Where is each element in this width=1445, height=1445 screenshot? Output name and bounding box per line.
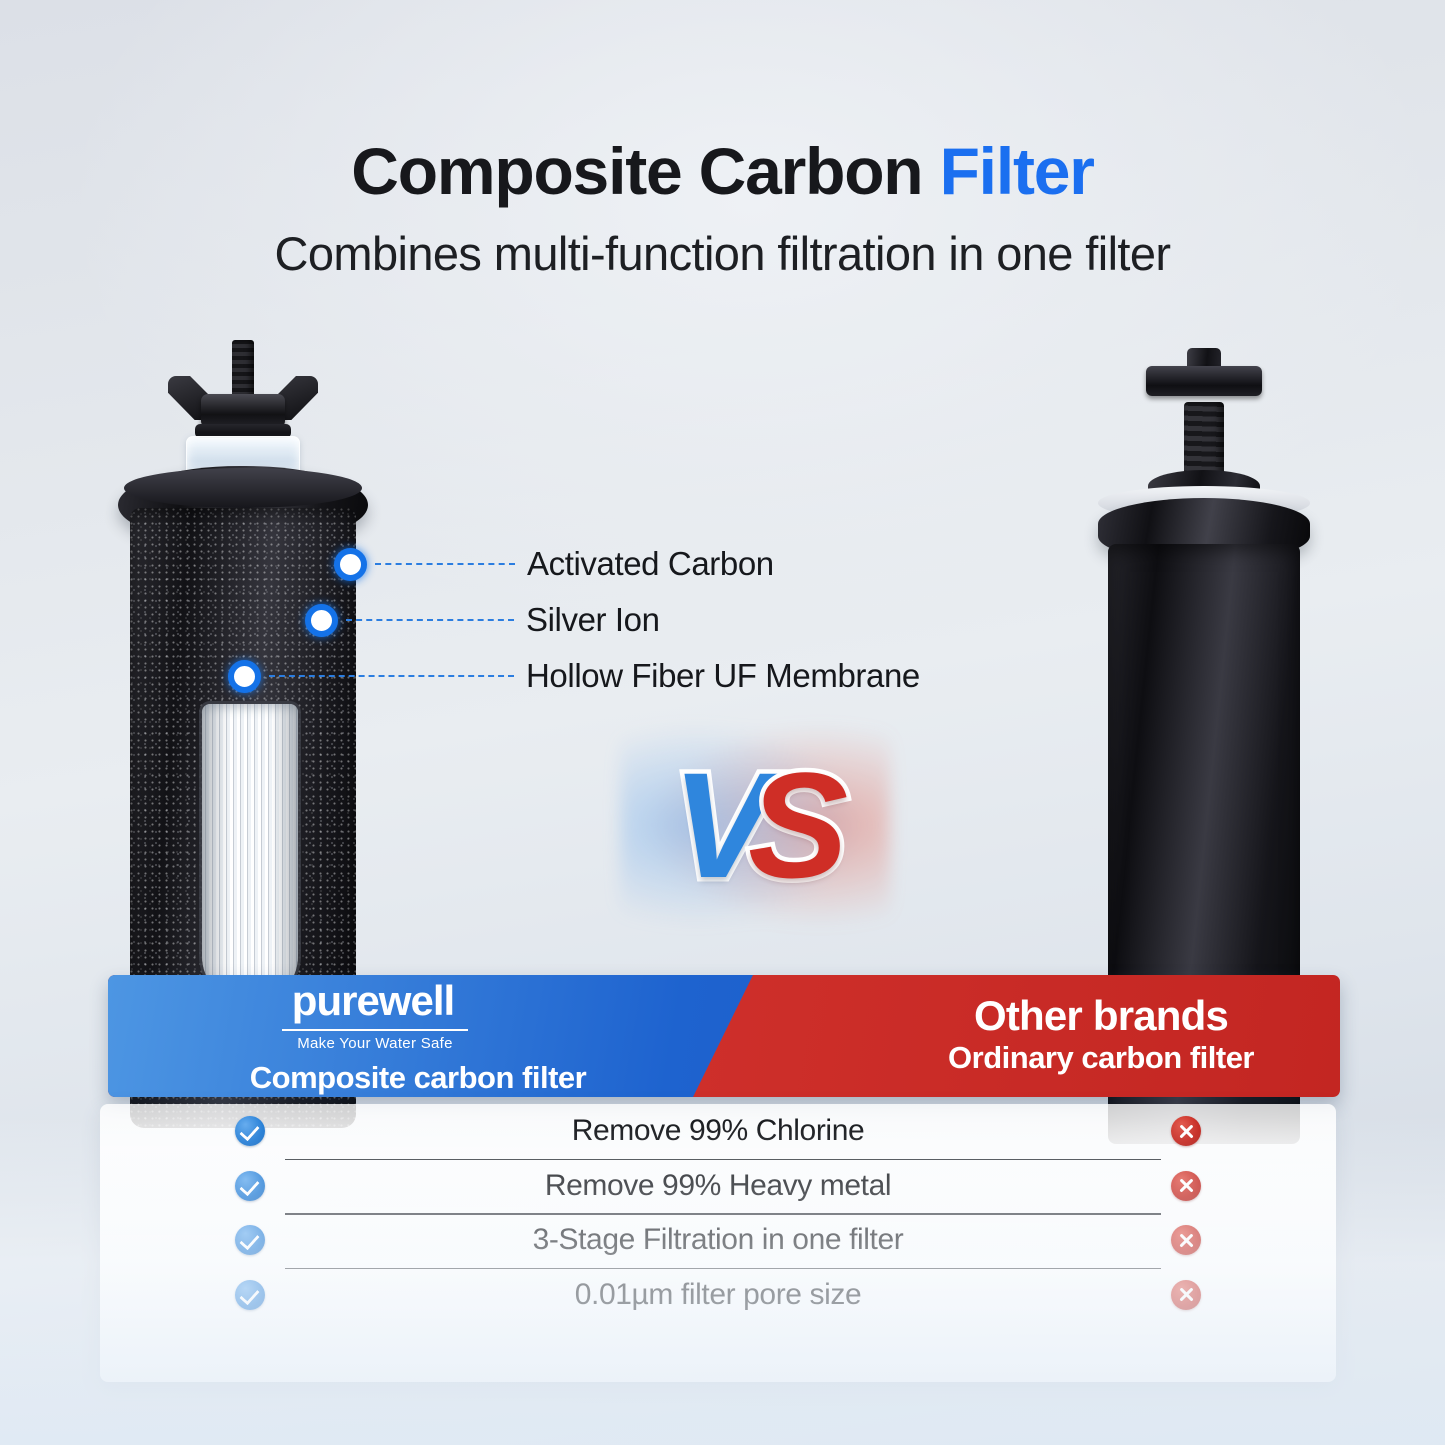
- callout-hollow-fiber-uf-membrane: Hollow Fiber UF Membrane: [228, 657, 920, 695]
- title-accent-text: Filter: [940, 134, 1094, 208]
- callout-activated-carbon: Activated Carbon: [334, 545, 774, 583]
- purewell-logo: purewell: [292, 980, 454, 1022]
- callout-leader-line: [346, 619, 514, 621]
- cross-icon: [1171, 1171, 1201, 1201]
- header: Composite Carbon Filter Combines multi-f…: [0, 0, 1445, 277]
- callout-label: Activated Carbon: [527, 545, 774, 583]
- check-icon: [235, 1171, 265, 1201]
- callout-dot-icon: [305, 604, 338, 637]
- callout-silver-ion: Silver Ion: [305, 601, 660, 639]
- page-subtitle: Combines multi-function filtration in on…: [0, 204, 1445, 277]
- filter-wing-nut: [168, 376, 318, 428]
- filter-cross-knob: [1146, 348, 1262, 410]
- cross-icon: [1171, 1280, 1201, 1310]
- check-icon: [235, 1280, 265, 1310]
- feature-label: Remove 99% Heavy metal: [400, 1169, 1036, 1203]
- callout-label: Silver Ion: [526, 601, 660, 639]
- callout-label: Hollow Fiber UF Membrane: [526, 657, 920, 695]
- banner-brand-block: purewell Make Your Water Safe Composite …: [108, 975, 728, 1097]
- competitor-product-label: Ordinary carbon filter: [948, 1039, 1254, 1078]
- logo-divider: [282, 1029, 468, 1031]
- cross-knob-horizontal-bar: [1146, 366, 1262, 396]
- table-row: Remove 99% Heavy metal: [100, 1159, 1336, 1214]
- cross-icon: [1171, 1116, 1201, 1146]
- infographic-stage: Composite Carbon Filter Combines multi-f…: [0, 0, 1445, 1445]
- versus-text: VS: [672, 750, 838, 900]
- table-row: 0.01µm filter pore size: [100, 1268, 1336, 1323]
- page-title: Composite Carbon Filter: [0, 0, 1445, 204]
- table-row: 3-Stage Filtration in one filter: [100, 1213, 1336, 1268]
- comparison-table: Remove 99% Chlorine Remove 99% Heavy met…: [100, 1104, 1336, 1382]
- callout-dot-icon: [228, 660, 261, 693]
- check-icon: [235, 1116, 265, 1146]
- versus-badge: VS: [640, 735, 870, 915]
- callout-dot-icon: [334, 548, 367, 581]
- check-icon: [235, 1225, 265, 1255]
- comparison-banner: purewell Make Your Water Safe Composite …: [108, 975, 1340, 1097]
- feature-label: Remove 99% Chlorine: [400, 1114, 1036, 1148]
- filter-membrane-window: [202, 704, 298, 1004]
- theirs-cell: [1036, 1116, 1336, 1146]
- theirs-cell: [1036, 1225, 1336, 1255]
- ours-cell: [100, 1116, 400, 1146]
- ours-cell: [100, 1280, 400, 1310]
- theirs-cell: [1036, 1280, 1336, 1310]
- cross-icon: [1171, 1225, 1201, 1255]
- feature-label: 3-Stage Filtration in one filter: [400, 1223, 1036, 1257]
- wing-nut-hub: [201, 394, 285, 428]
- title-main-text: Composite Carbon: [351, 134, 939, 208]
- brand-tagline: Make Your Water Safe: [297, 1036, 453, 1051]
- callout-leader-line: [269, 675, 514, 677]
- versus-s-letter: S: [748, 741, 838, 909]
- feature-label: 0.01µm filter pore size: [400, 1278, 1036, 1312]
- competitor-title: Other brands: [974, 994, 1228, 1039]
- callout-leader-line: [375, 563, 515, 565]
- theirs-cell: [1036, 1171, 1336, 1201]
- brand-product-label: Composite carbon filter: [250, 1062, 586, 1093]
- table-row: Remove 99% Chlorine: [100, 1104, 1336, 1159]
- filter-screw-thread: [1184, 402, 1224, 478]
- ours-cell: [100, 1225, 400, 1255]
- ours-cell: [100, 1171, 400, 1201]
- banner-competitor-block: Other brands Ordinary carbon filter: [948, 975, 1254, 1097]
